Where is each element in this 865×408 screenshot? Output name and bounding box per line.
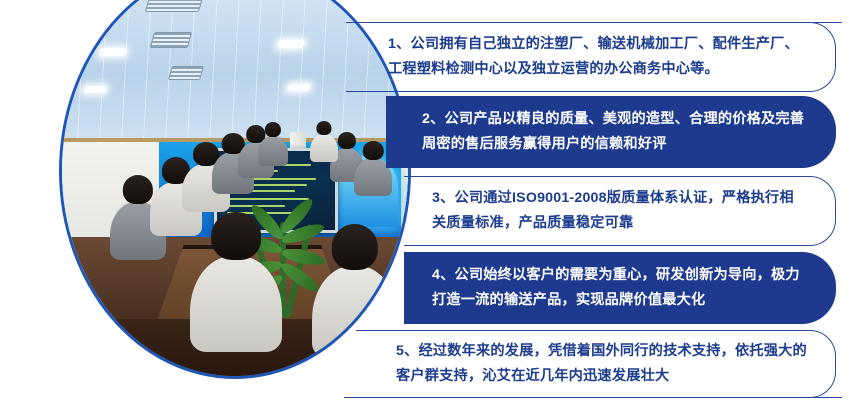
advantage-text-1: 1、公司拥有自己独立的注塑厂、输送机械加工厂、配件生产厂、 工程塑料检测中心以及… — [388, 32, 799, 82]
advantages-infographic: 1、公司拥有自己独立的注塑厂、输送机械加工厂、配件生产厂、 工程塑料检测中心以及… — [0, 0, 865, 408]
advantage-text-5: 5、经过数年来的发展，凭借着国外同行的技术支持，依托强大的 客户群支持，沁艾在近… — [396, 339, 807, 389]
advantage-list: 1、公司拥有自己独立的注塑厂、输送机械加工厂、配件生产厂、 工程塑料检测中心以及… — [0, 0, 865, 408]
advantage-text-2: 2、公司产品以精良的质量、美观的造型、合理的价格及完善 周密的售后服务赢得用户的… — [422, 107, 804, 157]
advantage-text-3: 3、公司通过ISO9001-2008版质量体系认证，严格执行相 关质量标准，产品… — [432, 186, 794, 236]
advantage-item-4[interactable]: 4、公司始终以客户的需要为重心，研发创新为导向，极力 打造一流的输送产品，实现品… — [404, 252, 836, 324]
advantage-item-2[interactable]: 2、公司产品以精良的质量、美观的造型、合理的价格及完善 周密的售后服务赢得用户的… — [386, 96, 836, 168]
advantage-text-4: 4、公司始终以客户的需要为重心，研发创新为导向，极力 打造一流的输送产品，实现品… — [432, 263, 800, 313]
advantage-item-3[interactable]: 3、公司通过ISO9001-2008版质量体系认证，严格执行相 关质量标准，产品… — [404, 176, 836, 246]
advantage-item-1[interactable]: 1、公司拥有自己独立的注塑厂、输送机械加工厂、配件生产厂、 工程塑料检测中心以及… — [346, 22, 836, 92]
advantage-item-5[interactable]: 5、经过数年来的发展，凭借着国外同行的技术支持，依托强大的 客户群支持，沁艾在近… — [356, 330, 836, 398]
